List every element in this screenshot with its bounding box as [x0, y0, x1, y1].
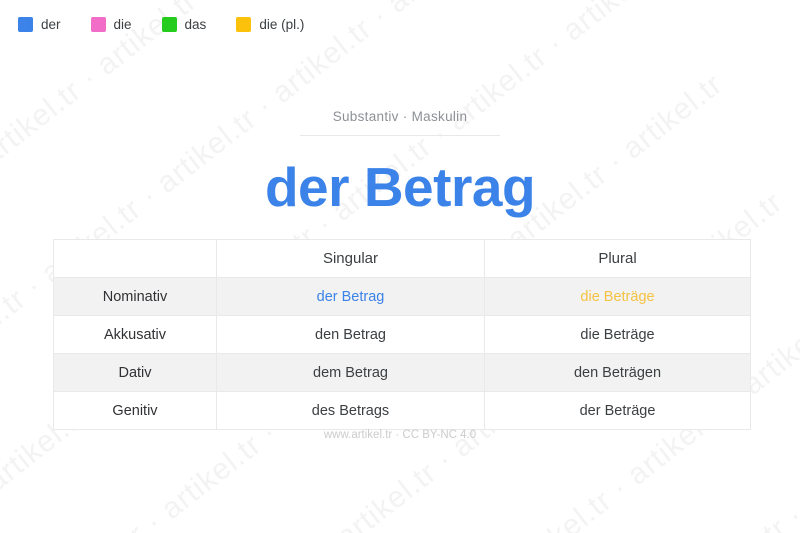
article-color-legend: der die das die (pl.)	[18, 17, 334, 32]
cell-dativ-singular: dem Betrag	[217, 354, 485, 392]
table-header-row: Singular Plural	[54, 240, 751, 278]
color-swatch-icon-die	[91, 17, 106, 32]
cell-dativ-plural: den Beträgen	[485, 354, 751, 392]
conjugation-card: der die das die (pl.) Substantiv · Masku…	[0, 0, 800, 533]
cell-akkusativ-singular: den Betrag	[217, 316, 485, 354]
table-body: Nominativ der Betrag die Beträge Akkusat…	[54, 278, 751, 430]
legend-item-der: der	[18, 17, 61, 32]
legend-label-die: die	[114, 17, 132, 32]
page-title: der Betrag	[0, 159, 800, 217]
table-row: Akkusativ den Betrag die Beträge	[54, 316, 751, 354]
cell-genitiv-plural: der Beträge	[485, 392, 751, 430]
cell-nominativ-plural: die Beträge	[485, 278, 751, 316]
declension-table: Singular Plural Nominativ der Betrag die…	[53, 239, 751, 430]
legend-item-das: das	[162, 17, 207, 32]
case-label-dativ: Dativ	[54, 354, 217, 392]
legend-label-die-plural: die (pl.)	[259, 17, 304, 32]
table-head: Singular Plural	[54, 240, 751, 278]
card-header: Substantiv · Maskulin der Betrag	[0, 108, 800, 217]
case-label-genitiv: Genitiv	[54, 392, 217, 430]
table-row: Dativ dem Betrag den Beträgen	[54, 354, 751, 392]
cell-akkusativ-plural: die Beträge	[485, 316, 751, 354]
case-label-akkusativ: Akkusativ	[54, 316, 217, 354]
legend-label-das: das	[185, 17, 207, 32]
legend-item-die: die	[91, 17, 132, 32]
legend-item-die-plural: die (pl.)	[236, 17, 304, 32]
color-swatch-icon-der	[18, 17, 33, 32]
word-category-line: Substantiv · Maskulin	[0, 108, 800, 135]
legend-label-der: der	[41, 17, 61, 32]
column-header-case	[54, 240, 217, 278]
cell-genitiv-singular: des Betrags	[217, 392, 485, 430]
color-swatch-icon-das	[162, 17, 177, 32]
column-header-singular: Singular	[217, 240, 485, 278]
cell-nominativ-singular: der Betrag	[217, 278, 485, 316]
color-swatch-icon-die-plural	[236, 17, 251, 32]
column-header-plural: Plural	[485, 240, 751, 278]
table-row: Genitiv des Betrags der Beträge	[54, 392, 751, 430]
footer-attribution: www.artikel.tr · CC BY-NC 4.0	[0, 429, 800, 441]
case-label-nominativ: Nominativ	[54, 278, 217, 316]
header-divider	[300, 135, 500, 136]
table-row: Nominativ der Betrag die Beträge	[54, 278, 751, 316]
word-category: Substantiv · Maskulin	[333, 109, 468, 135]
